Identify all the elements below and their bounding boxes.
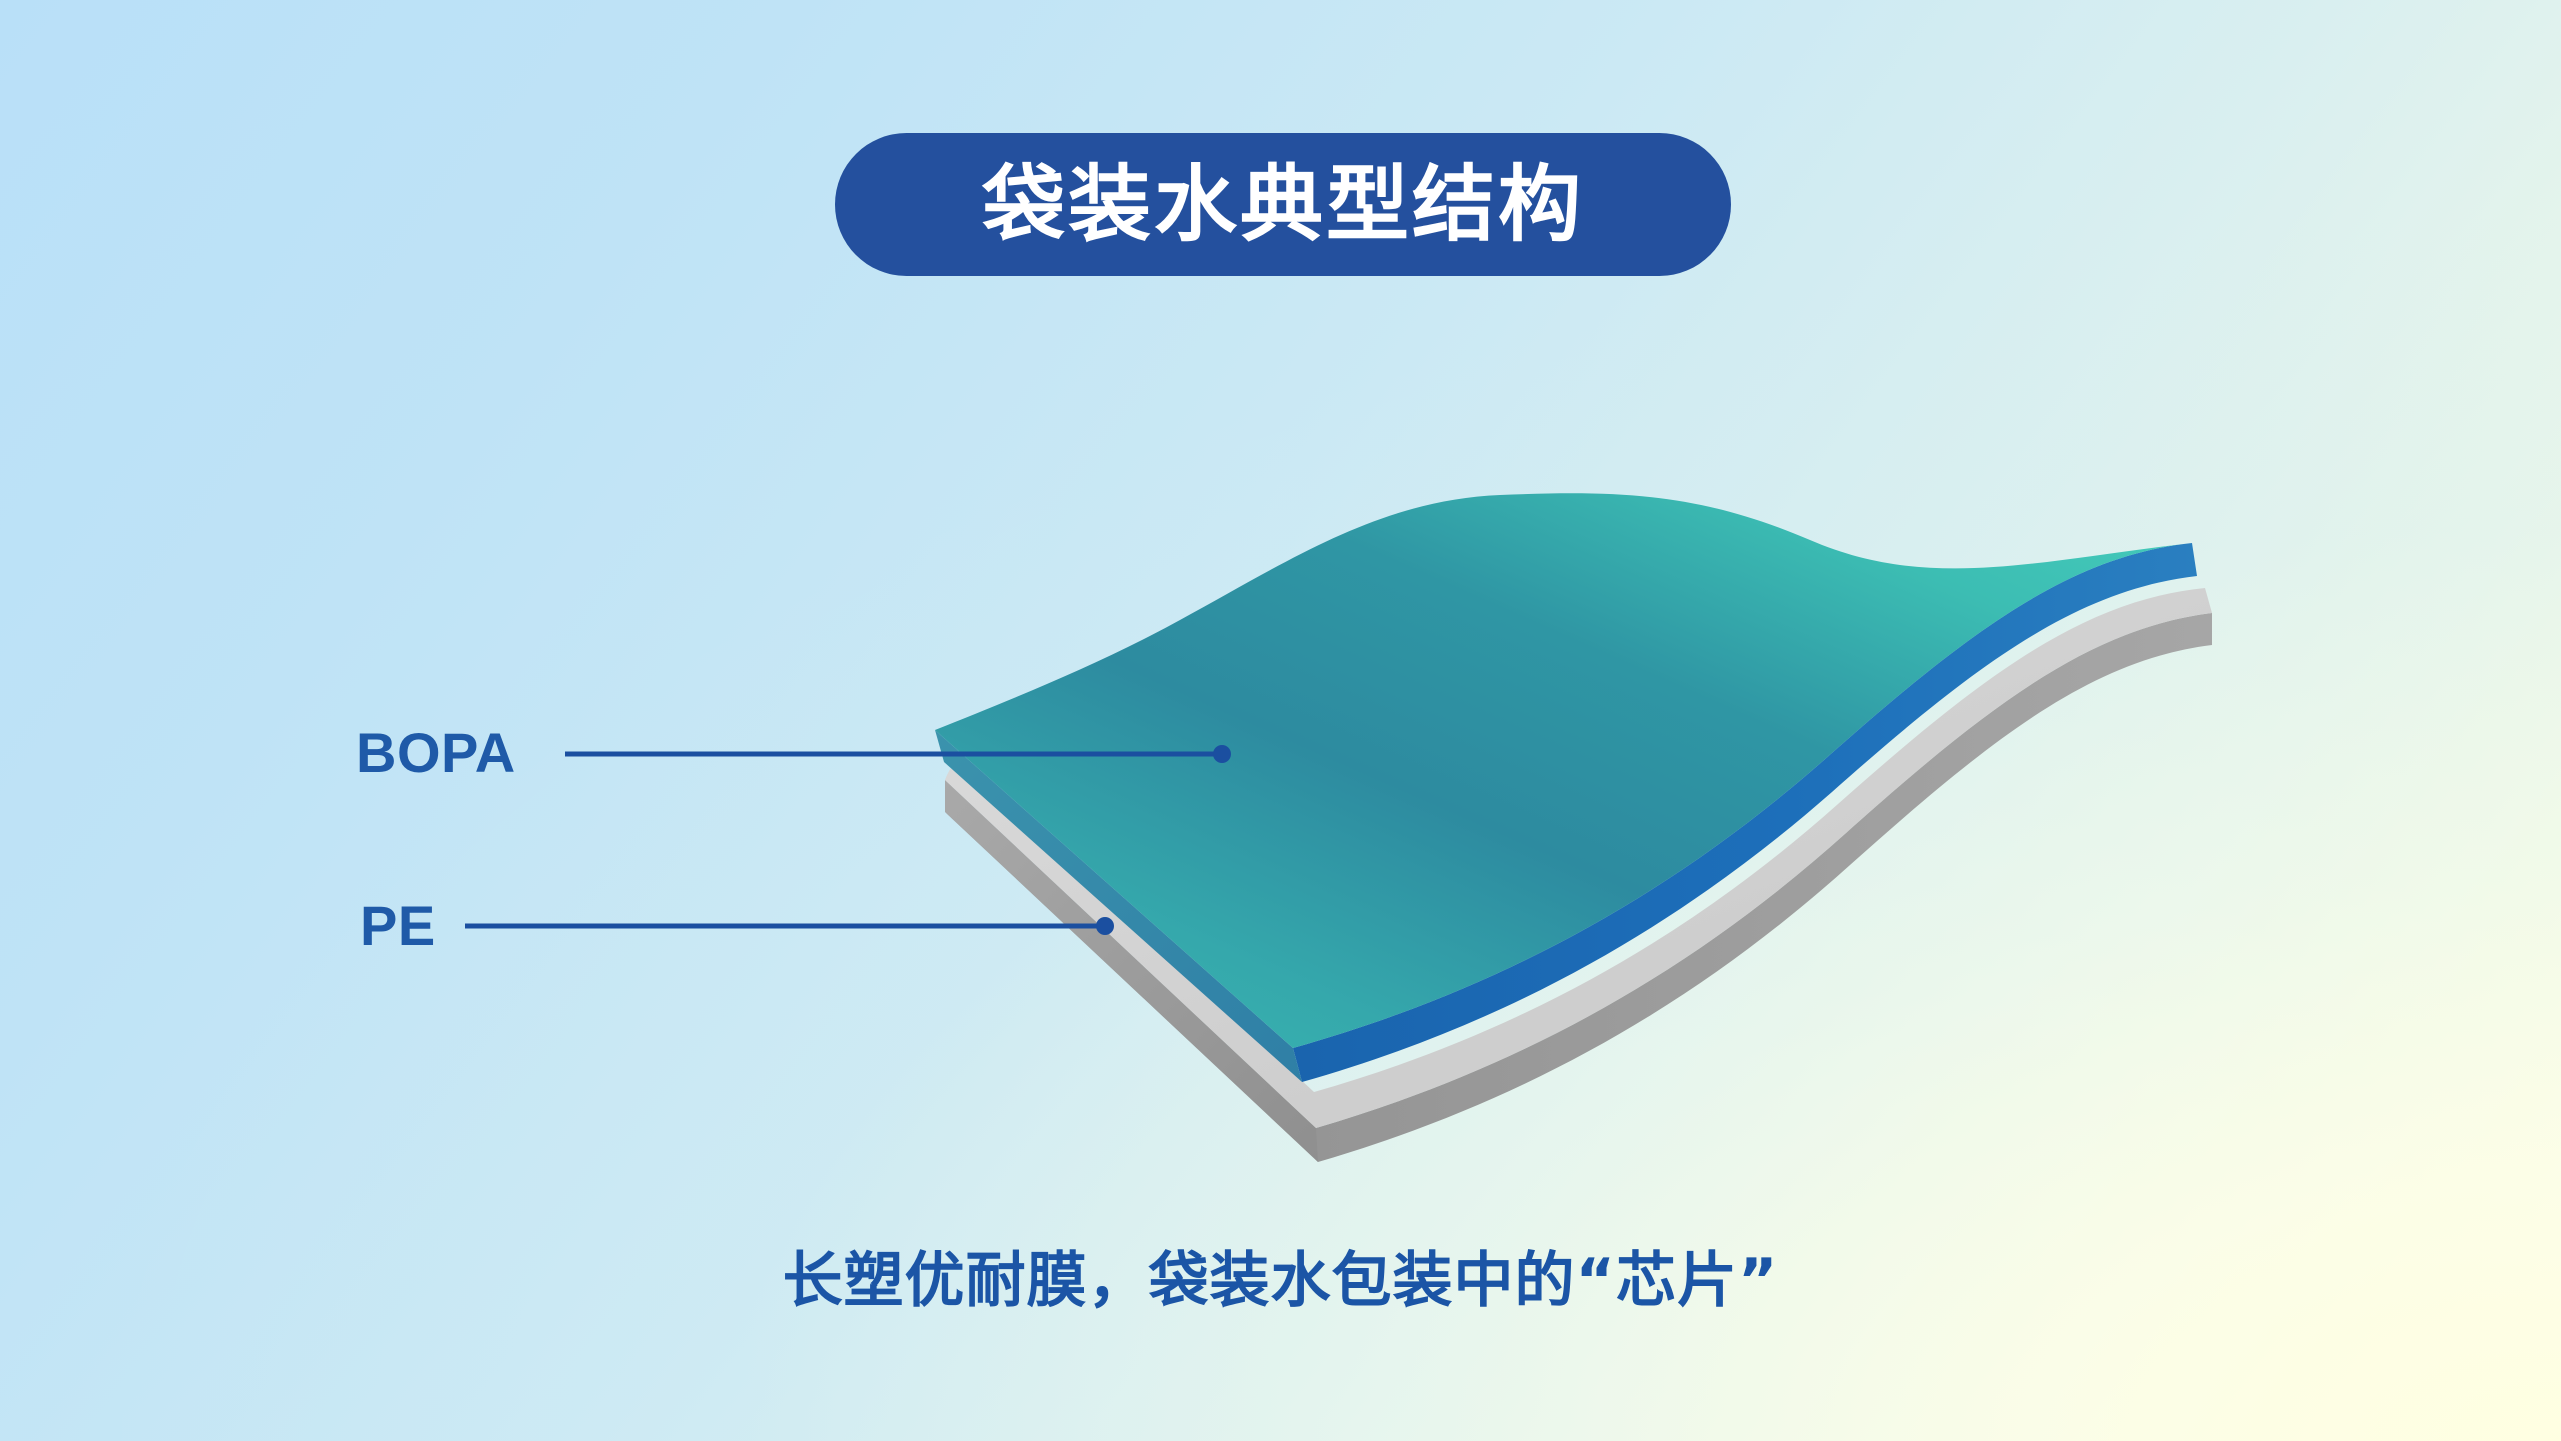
layer-label-bopa: BOPA — [356, 725, 516, 781]
title-badge: 袋装水典型结构 — [835, 133, 1731, 276]
layer-label-pe: PE — [360, 898, 436, 954]
poster-canvas: 袋装水典型结构 BOPA PE 长塑优耐膜，袋装水包装中的“芯片” — [0, 0, 2561, 1441]
caption-text: 长塑优耐膜，袋装水包装中的“芯片” — [0, 1248, 2561, 1314]
leader-dot-pe — [1096, 917, 1114, 935]
leader-dot-bopa — [1213, 745, 1231, 763]
page-title: 袋装水典型结构 — [982, 163, 1584, 246]
